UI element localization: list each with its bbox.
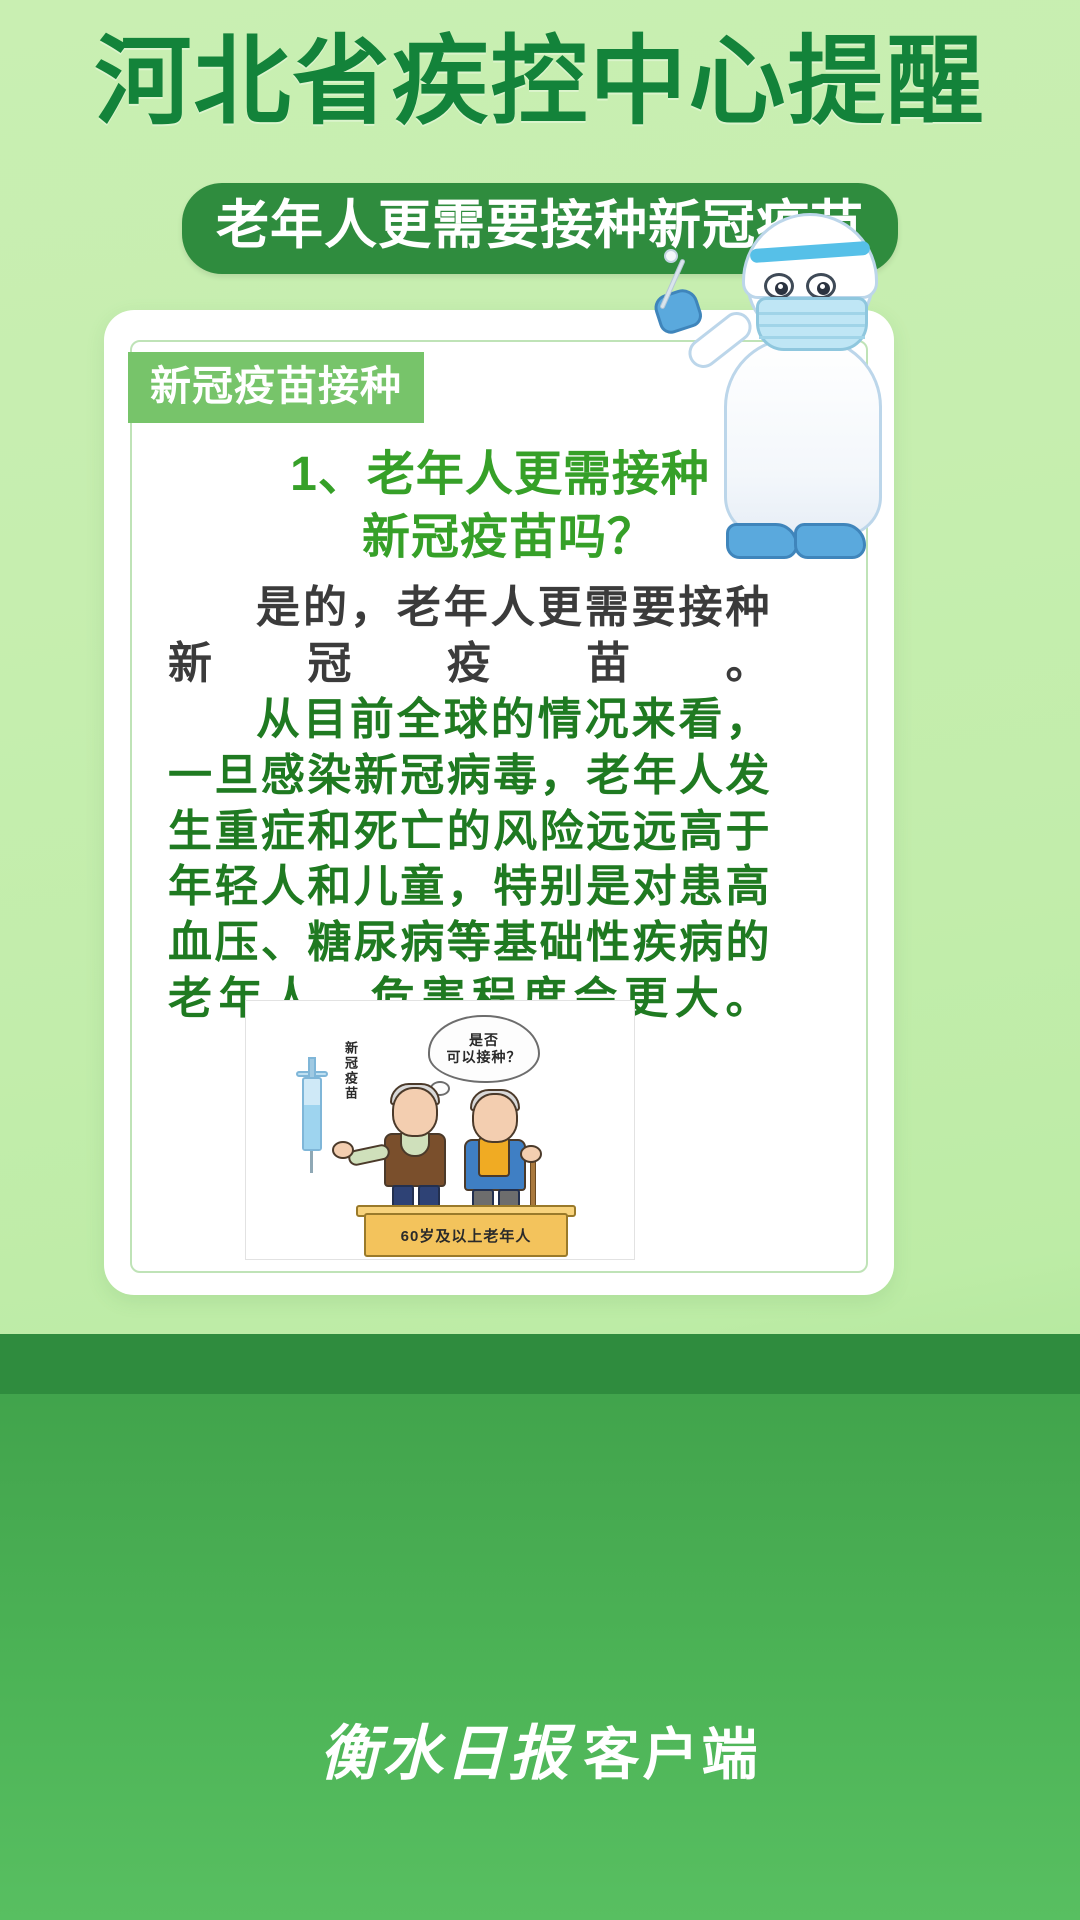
answer-paragraph-1: 是的，老年人更需要接种新冠疫苗。 — [168, 580, 770, 692]
syringe-label: 新冠疫苗 — [342, 1041, 357, 1101]
mascot-eye-left — [764, 273, 794, 299]
speech-bubble-line-2: 可以接种？ — [447, 1049, 522, 1065]
mascot-shoe-left — [726, 523, 798, 559]
syringe-icon — [294, 1053, 328, 1171]
mascot-shoe-right — [794, 523, 866, 559]
brand-name-secondary: 客户端 — [584, 1723, 761, 1786]
mascot-eye-right — [806, 273, 836, 299]
mascot-body — [724, 337, 882, 537]
ppe-nurse-mascot — [690, 205, 910, 595]
answer-body: 是的，老年人更需要接种新冠疫苗。 从目前全球的情况来看，一旦感染新冠病毒，老年人… — [168, 580, 770, 1027]
elderly-person-right — [454, 1093, 540, 1223]
page-title: 河北省疾控中心提醒 — [0, 28, 1080, 135]
elderly-person-left — [372, 1087, 458, 1223]
mascot-face-mask — [756, 297, 868, 351]
speech-bubble-line-1: 是否 — [469, 1032, 499, 1048]
platform-label-block: 60岁及以上老年人 — [364, 1213, 568, 1257]
section-label-tab: 新冠疫苗接种 — [128, 352, 424, 423]
mascot-swab-tip — [664, 249, 678, 263]
footer-brand: 衡水日报客户端 — [0, 1705, 1080, 1792]
answer-paragraph-2: 从目前全球的情况来看，一旦感染新冠病毒，老年人发生重症和死亡的风险远远高于年轻人… — [168, 692, 770, 1027]
speech-bubble: 是否 可以接种？ — [428, 1015, 540, 1083]
brand-name-primary: 衡水日报 — [320, 1719, 572, 1789]
footer-band — [0, 1360, 1080, 1920]
platform-label: 60岁及以上老年人 — [401, 1225, 532, 1246]
illustration-figure: 新冠疫苗 是否 可以接种？ — [245, 1000, 635, 1260]
poster-background: 河北省疾控中心提醒 老年人更需要接种新冠疫苗 新冠疫苗接种 1、老年人更需接种 … — [0, 0, 1080, 1920]
speech-bubble-text: 是否 可以接种？ — [447, 1032, 522, 1067]
